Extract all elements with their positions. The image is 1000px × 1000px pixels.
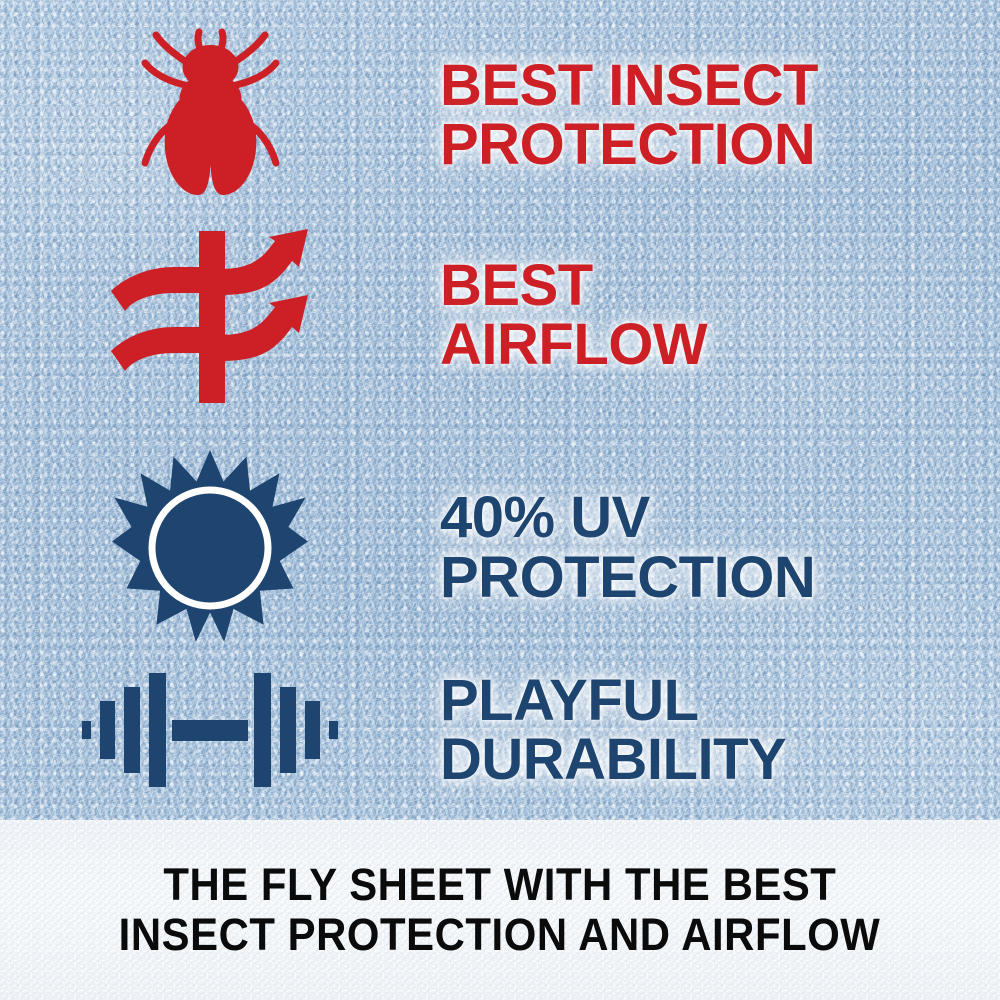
- caption-line-2: INSECT PROTECTION AND AIRFLOW: [119, 910, 881, 960]
- dumbbell-icon: [80, 665, 340, 795]
- text-cell-durability: PLAYFUL DURABILITY: [420, 671, 1000, 789]
- feature-row-insect-protection: BEST INSECT PROTECTION: [0, 20, 1000, 210]
- icon-cell-insect: [0, 23, 420, 208]
- text-cell-uv: 40% UV PROTECTION: [420, 488, 1000, 606]
- text-cell-airflow: BEST AIRFLOW: [420, 256, 1000, 374]
- sun-uv-icon: [110, 448, 310, 648]
- icon-cell-durability: [0, 665, 420, 795]
- text-cell-insect: BEST INSECT PROTECTION: [420, 56, 1000, 174]
- feature-row-durability: PLAYFUL DURABILITY: [0, 650, 1000, 810]
- icon-cell-airflow: [0, 223, 420, 408]
- fly-icon: [123, 23, 298, 208]
- feature-label-insect-protection: BEST INSECT PROTECTION: [440, 56, 1000, 174]
- airflow-through-barrier-icon: [103, 223, 318, 408]
- feature-label-airflow: BEST AIRFLOW: [440, 256, 1000, 374]
- caption-band: THE FLY SHEET WITH THE BEST INSECT PROTE…: [0, 820, 1000, 1000]
- caption-line-1: THE FLY SHEET WITH THE BEST: [163, 860, 836, 910]
- feature-row-uv-protection: 40% UV PROTECTION: [0, 440, 1000, 655]
- feature-label-uv-protection: 40% UV PROTECTION: [440, 488, 1000, 606]
- feature-label-durability: PLAYFUL DURABILITY: [440, 671, 1000, 789]
- feature-row-airflow: BEST AIRFLOW: [0, 215, 1000, 415]
- icon-cell-uv: [0, 448, 420, 648]
- product-feature-poster: BEST INSECT PROTECTION BEST AIRFLOW: [0, 0, 1000, 1000]
